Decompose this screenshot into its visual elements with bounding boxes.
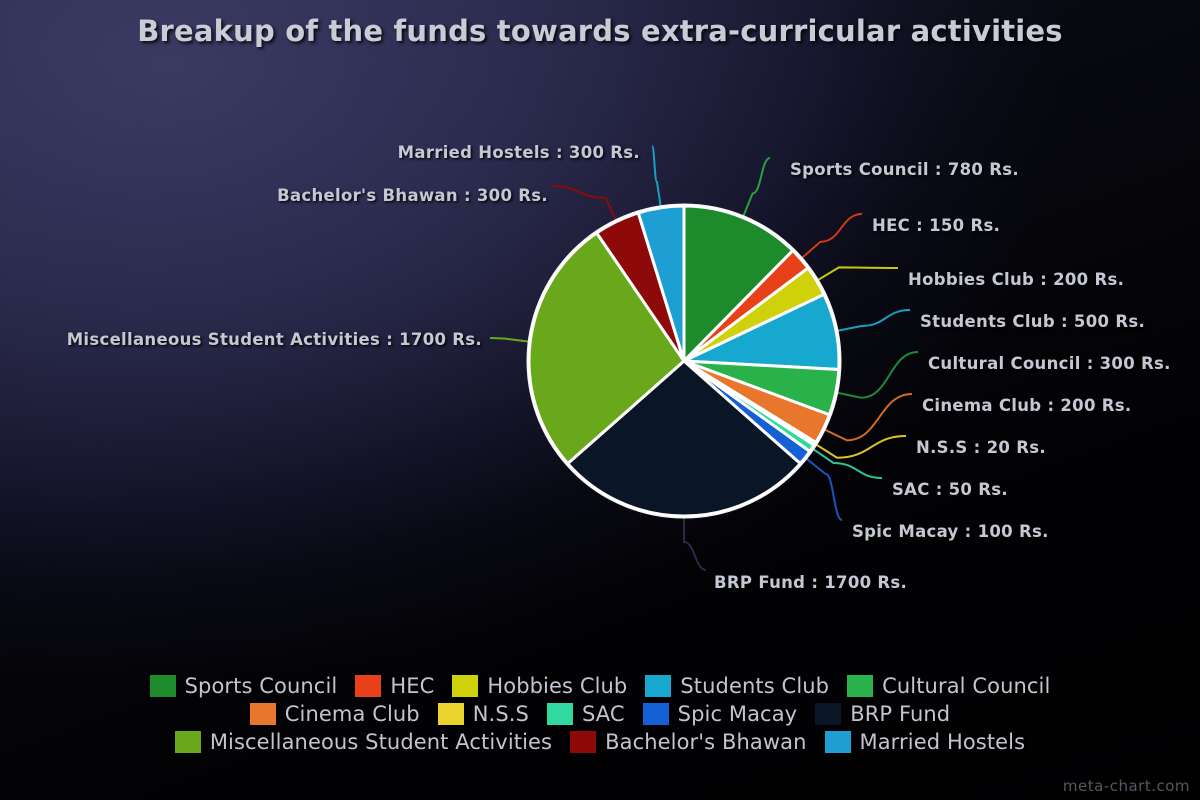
legend-item[interactable]: Married Hostels [825, 730, 1026, 754]
legend-label: Students Club [680, 674, 829, 698]
legend-label: Bachelor's Bhawan [605, 730, 806, 754]
legend-swatch-icon [815, 703, 841, 725]
callout-students-club: Students Club : 500 Rs. [920, 312, 1145, 331]
callout-bachelors-bhawan: Bachelor's Bhawan : 300 Rs. [0, 186, 548, 205]
chart-legend: Sports CouncilHECHobbies ClubStudents Cl… [0, 672, 1200, 756]
legend-swatch-icon [825, 731, 851, 753]
legend-item[interactable]: BRP Fund [815, 702, 950, 726]
legend-swatch-icon [847, 675, 873, 697]
legend-swatch-icon [250, 703, 276, 725]
legend-label: N.S.S [473, 702, 529, 726]
legend-label: SAC [582, 702, 625, 726]
legend-item[interactable]: Cinema Club [250, 702, 420, 726]
legend-item[interactable]: Students Club [645, 674, 829, 698]
legend-label: Miscellaneous Student Activities [210, 730, 552, 754]
legend-swatch-icon [452, 675, 478, 697]
legend-item[interactable]: SAC [547, 702, 625, 726]
legend-item[interactable]: Cultural Council [847, 674, 1050, 698]
legend-label: Cinema Club [285, 702, 420, 726]
legend-swatch-icon [175, 731, 201, 753]
callout-married-hostels: Married Hostels : 300 Rs. [0, 143, 640, 162]
pie-slices [527, 204, 842, 519]
legend-item[interactable]: Spic Macay [643, 702, 798, 726]
legend-swatch-icon [438, 703, 464, 725]
legend-label: HEC [390, 674, 434, 698]
legend-item[interactable]: Bachelor's Bhawan [570, 730, 806, 754]
callout-cultural-council: Cultural Council : 300 Rs. [928, 354, 1171, 373]
legend-label: Cultural Council [882, 674, 1050, 698]
callout-hobbies-club: Hobbies Club : 200 Rs. [908, 270, 1124, 289]
legend-item[interactable]: Sports Council [150, 674, 338, 698]
legend-item[interactable]: Hobbies Club [452, 674, 627, 698]
callout-misc-student-activities: Miscellaneous Student Activities : 1700 … [0, 330, 482, 349]
legend-item[interactable]: Miscellaneous Student Activities [175, 730, 552, 754]
legend-item[interactable]: HEC [355, 674, 434, 698]
legend-item[interactable]: N.S.S [438, 702, 529, 726]
callout-cinema-club: Cinema Club : 200 Rs. [922, 396, 1131, 415]
callout-sac: SAC : 50 Rs. [892, 480, 1008, 499]
legend-swatch-icon [643, 703, 669, 725]
legend-swatch-icon [570, 731, 596, 753]
legend-row: Miscellaneous Student ActivitiesBachelor… [0, 728, 1200, 756]
callout-sports-council: Sports Council : 780 Rs. [790, 160, 1019, 179]
callout-nss: N.S.S : 20 Rs. [916, 438, 1046, 457]
legend-swatch-icon [150, 675, 176, 697]
callout-spic-macay: Spic Macay : 100 Rs. [852, 522, 1049, 541]
legend-swatch-icon [355, 675, 381, 697]
legend-label: Sports Council [185, 674, 338, 698]
legend-row: Sports CouncilHECHobbies ClubStudents Cl… [0, 672, 1200, 700]
callout-brp-fund: BRP Fund : 1700 Rs. [714, 573, 907, 592]
callout-hec: HEC : 150 Rs. [872, 216, 1000, 235]
legend-swatch-icon [547, 703, 573, 725]
legend-label: Married Hostels [860, 730, 1026, 754]
legend-label: BRP Fund [850, 702, 950, 726]
legend-row: Cinema ClubN.S.SSACSpic MacayBRP Fund [0, 700, 1200, 728]
legend-label: Spic Macay [678, 702, 798, 726]
watermark: meta-chart.com [1063, 777, 1190, 795]
legend-swatch-icon [645, 675, 671, 697]
legend-label: Hobbies Club [487, 674, 627, 698]
